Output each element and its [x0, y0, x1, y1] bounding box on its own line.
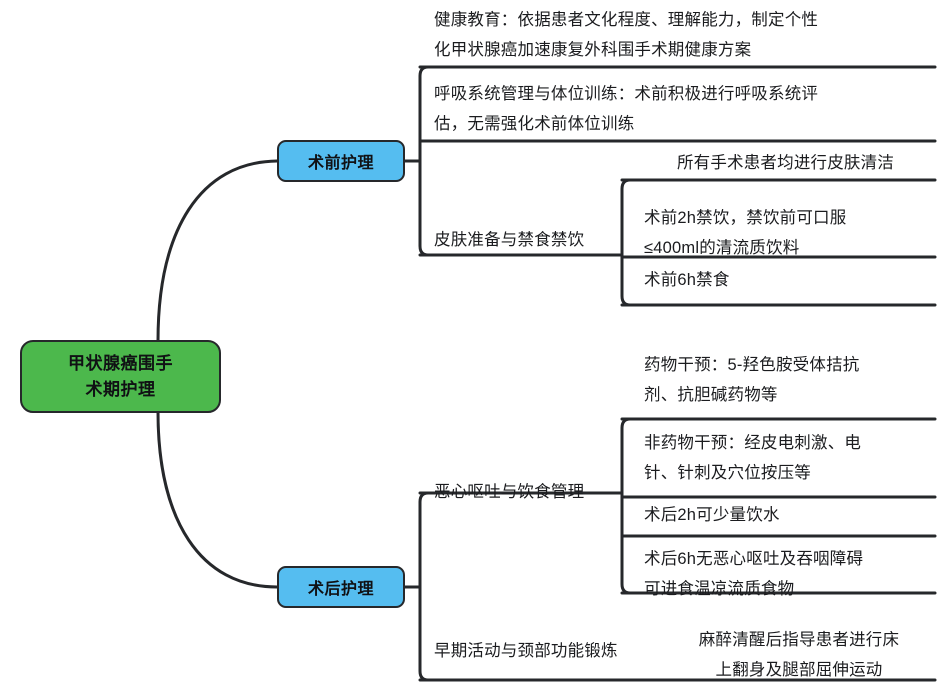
- root-node-line2: 术期护理: [54, 377, 187, 403]
- leaf-nausea-diet-management: 恶心呕吐与饮食管理: [434, 478, 619, 506]
- leaf-nondrug-intervention: 非药物干预：经皮电刺激、电 针、针刺及穴位按压等: [644, 428, 934, 488]
- root-node[interactable]: 甲状腺癌围手 术期护理: [20, 340, 221, 413]
- leaf-early-activity-neck-exercise: 早期活动与颈部功能锻炼: [434, 637, 664, 665]
- mindmap-canvas: 甲状腺癌围手 术期护理 术前护理 术后护理 健康教育：依据患者文化程度、理解能力…: [0, 0, 942, 697]
- leaf-water-2h-postop: 术后2h可少量饮水: [644, 500, 934, 531]
- branch-node-postoperative[interactable]: 术后护理: [277, 566, 405, 608]
- leaf-respiratory-management: 呼吸系统管理与体位训练：术前积极进行呼吸系统评 估，无需强化术前体位训练: [434, 79, 934, 139]
- leaf-skin-prep-fasting: 皮肤准备与禁食禁饮: [434, 226, 614, 254]
- leaf-skin-cleaning: 所有手术患者均进行皮肤清洁: [636, 148, 935, 179]
- leaf-liquid-food-6h-postop: 术后6h无恶心呕吐及吞咽障碍 可进食温凉流质食物: [644, 544, 934, 604]
- leaf-drug-intervention: 药物干预：5-羟色胺受体拮抗 剂、抗胆碱药物等: [644, 350, 934, 410]
- leaf-health-education: 健康教育：依据患者文化程度、理解能力，制定个性 化甲状腺癌加速康复外科围手术期健…: [434, 5, 934, 65]
- leaf-fasting-food-6h: 术前6h禁食: [644, 265, 934, 296]
- leaf-bed-turning-leg-exercise: 麻醉清醒后指导患者进行床 上翻身及腿部屈伸运动: [660, 625, 938, 685]
- leaf-fasting-drink-2h: 术前2h禁饮，禁饮前可口服 ≤400ml的清流质饮料: [644, 203, 934, 263]
- root-node-line1: 甲状腺癌围手: [54, 351, 187, 377]
- branch-node-preoperative-label: 术前护理: [308, 149, 374, 173]
- branch-node-postoperative-label: 术后护理: [308, 575, 374, 599]
- branch-node-preoperative[interactable]: 术前护理: [277, 140, 405, 182]
